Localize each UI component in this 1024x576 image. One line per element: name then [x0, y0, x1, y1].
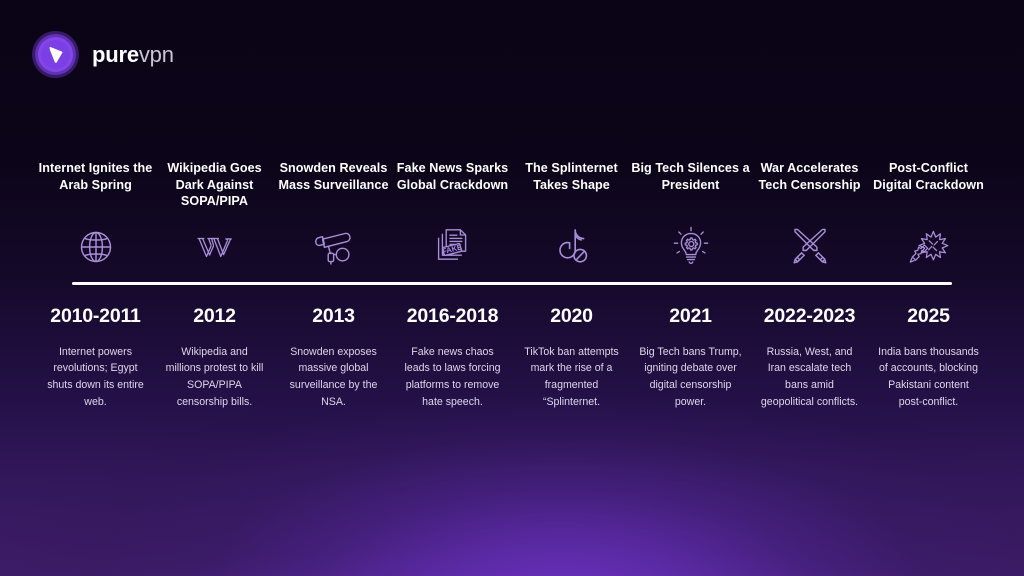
timeline-item-description: Wikipedia and millions protest to kill S…: [155, 344, 274, 411]
tiktok-banned-icon: [552, 218, 592, 276]
timeline-item-title: Wikipedia Goes Dark Against SOPA/PIPA: [155, 160, 274, 212]
timeline-item[interactable]: 2013 Snowden exposes massive global surv…: [274, 285, 393, 410]
timeline-item-description: Russia, West, and Iran escalate tech ban…: [750, 344, 869, 411]
timeline-item-title: Snowden Reveals Mass Surveillance: [274, 160, 393, 212]
timeline-item[interactable]: Post-Conflict Digital Crackdown: [869, 160, 988, 276]
brand-logo[interactable]: purevpn: [32, 31, 174, 78]
timeline-item-year: 2020: [550, 307, 593, 327]
timeline-item-year: 2016-2018: [407, 307, 498, 327]
infographic-canvas: purevpn Internet Ignites the Arab Spring: [0, 0, 1024, 576]
timeline-item-description: Fake news chaos leads to laws forcing pl…: [393, 344, 512, 411]
timeline-item-title: Post-Conflict Digital Crackdown: [869, 160, 988, 212]
timeline-item-title: Internet Ignites the Arab Spring: [36, 160, 155, 212]
brand-name-bold: pure: [92, 42, 139, 67]
globe-icon: [76, 218, 116, 276]
timeline-item-year: 2013: [312, 307, 355, 327]
timeline-item-description: Internet powers revolutions; Egypt shuts…: [36, 344, 155, 411]
timeline-item[interactable]: The Splinternet Takes Shape: [512, 160, 631, 276]
timeline-item-title: War Accelerates Tech Censorship: [750, 160, 869, 212]
timeline-item-description: TikTok ban attempts mark the rise of a f…: [512, 344, 631, 411]
timeline-item[interactable]: 2020 TikTok ban attempts mark the rise o…: [512, 285, 631, 410]
timeline-item[interactable]: 2022-2023 Russia, West, and Iran escalat…: [750, 285, 869, 410]
fake-news-documents-icon: FAKE: [432, 218, 474, 276]
lightbulb-gear-icon: [671, 218, 711, 276]
timeline-item[interactable]: 2025 India bans thousands of accounts, b…: [869, 285, 988, 410]
timeline-item-year: 2025: [907, 307, 950, 327]
timeline-item-year: 2021: [669, 307, 712, 327]
timeline-item[interactable]: Wikipedia Goes Dark Against SOPA/PIPA: [155, 160, 274, 276]
timeline-item-title: The Splinternet Takes Shape: [512, 160, 631, 212]
shield-glyph: [48, 46, 63, 63]
timeline: Internet Ignites the Arab Spring Wikiped…: [0, 160, 1024, 410]
timeline-top-row: Internet Ignites the Arab Spring Wikiped…: [32, 160, 992, 276]
timeline-item-year: 2012: [193, 307, 236, 327]
timeline-item[interactable]: Big Tech Silences a President: [631, 160, 750, 276]
timeline-item[interactable]: Snowden Reveals Mass Surveillance: [274, 160, 393, 276]
timeline-item-year: 2010-2011: [50, 307, 140, 327]
timeline-item[interactable]: Fake News Sparks Global Crackdown: [393, 160, 512, 276]
timeline-item[interactable]: Internet Ignites the Arab Spring: [36, 160, 155, 276]
timeline-item[interactable]: 2012 Wikipedia and millions protest to k…: [155, 285, 274, 410]
brand-wordmark: purevpn: [92, 44, 174, 66]
timeline-item[interactable]: 2016-2018 Fake news chaos leads to laws …: [393, 285, 512, 410]
timeline-item[interactable]: 2010-2011 Internet powers revolutions; E…: [36, 285, 155, 410]
timeline-item-title: Fake News Sparks Global Crackdown: [393, 160, 512, 212]
timeline-item-title: Big Tech Silences a President: [631, 160, 750, 212]
explosion-burst-icon: [907, 218, 951, 276]
crossed-swords-icon: [789, 218, 831, 276]
timeline-item-year: 2022-2023: [764, 307, 855, 327]
timeline-item-description: Snowden exposes massive global surveilla…: [274, 344, 393, 411]
timeline-item-description: India bans thousands of accounts, blocki…: [869, 344, 988, 411]
timeline-item[interactable]: War Accelerates Tech Censorship: [750, 160, 869, 276]
wikipedia-w-icon: [195, 218, 235, 276]
surveillance-camera-icon: [312, 218, 356, 276]
timeline-item[interactable]: 2021 Big Tech bans Trump, igniting debat…: [631, 285, 750, 410]
timeline-item-description: Big Tech bans Trump, igniting debate ove…: [631, 344, 750, 411]
purevpn-shield-icon: [32, 31, 79, 78]
brand-name-light: vpn: [139, 42, 174, 67]
timeline-bottom-row: 2010-2011 Internet powers revolutions; E…: [32, 285, 992, 410]
